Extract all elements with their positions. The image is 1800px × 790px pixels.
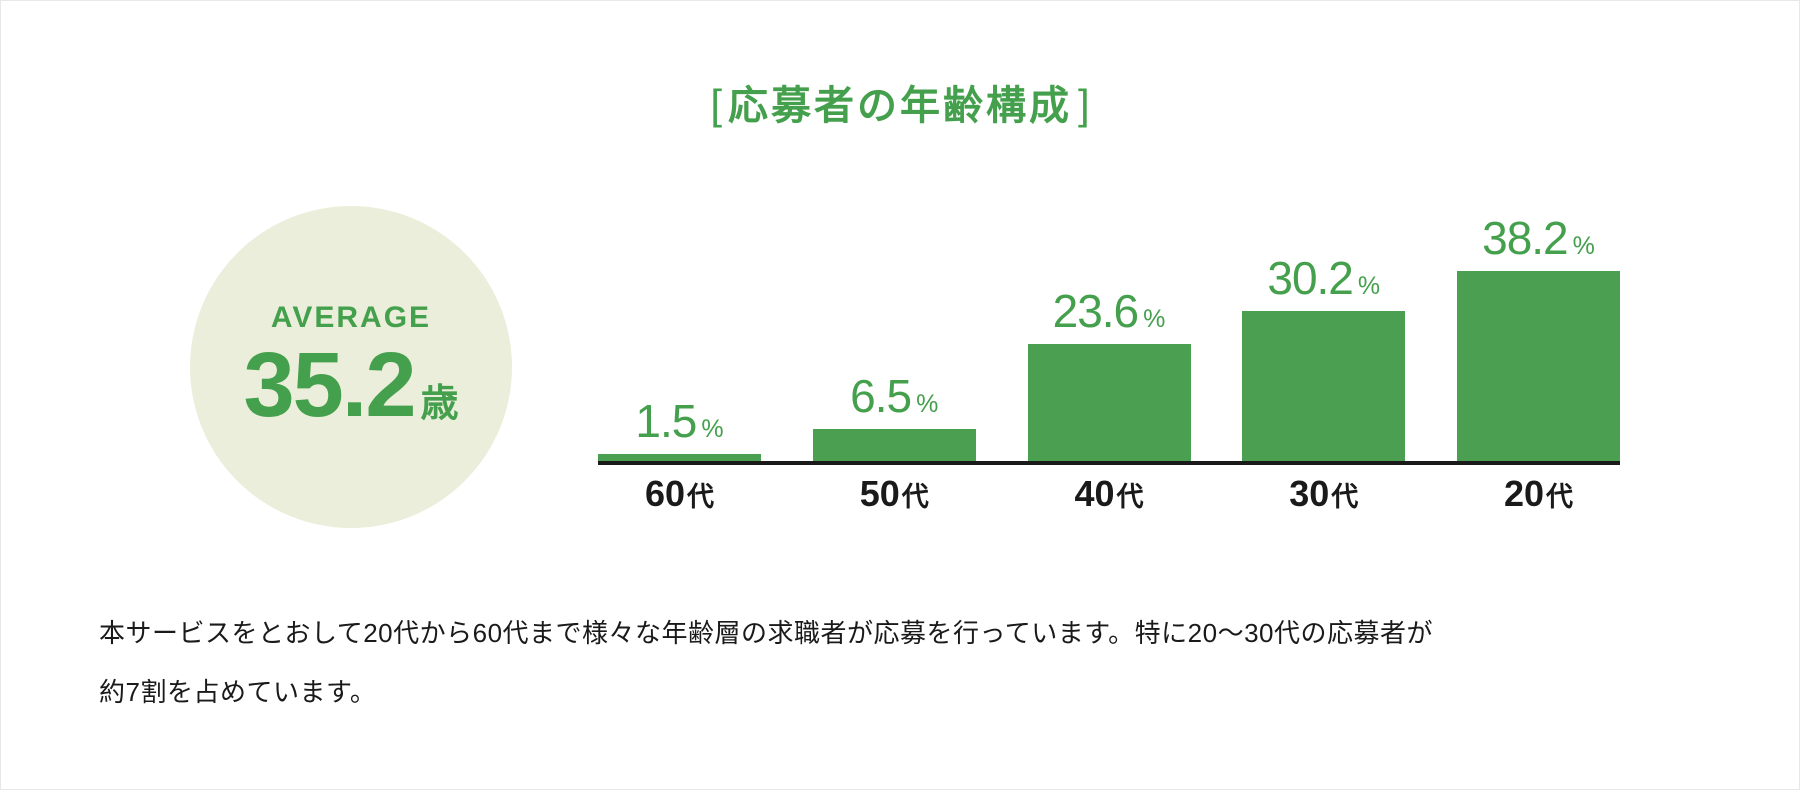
x-axis-label-suffix: 代 xyxy=(1331,482,1358,512)
x-axis-label-suffix: 代 xyxy=(1117,482,1144,512)
title-text: 応募者の年齢構成 xyxy=(728,84,1072,128)
x-axis-label-number: 20 xyxy=(1504,473,1544,514)
bar-chart: 1.5 % 6.5 % 23.6 % xyxy=(598,171,1620,461)
x-axis-label-suffix: 代 xyxy=(1546,482,1573,512)
description-line-2: 約7割を占めています。 xyxy=(99,663,1729,722)
bar-group: 1.5 % xyxy=(598,171,761,461)
x-axis-label-suffix: 代 xyxy=(687,482,714,512)
bar-value-label: 1.5 % xyxy=(635,398,723,444)
x-axis-label: 50代 xyxy=(813,473,976,515)
bar-group: 38.2 % xyxy=(1457,171,1620,461)
x-axis-label-number: 50 xyxy=(860,473,900,514)
x-axis-labels: 60代 50代 40代 30代 20代 xyxy=(598,473,1620,515)
title-bracket-right: ] xyxy=(1072,81,1096,128)
bar-rect xyxy=(813,429,976,461)
bar-rect xyxy=(1457,271,1620,461)
bar-value-label: 30.2 % xyxy=(1267,255,1380,301)
bar-value-unit: % xyxy=(1358,274,1380,299)
bar-value-unit: % xyxy=(916,392,938,417)
x-axis-label-suffix: 代 xyxy=(902,482,929,512)
page-title: [応募者の年齢構成] xyxy=(1,73,1799,131)
bar-group: 6.5 % xyxy=(813,171,976,461)
bar-value-number: 23.6 xyxy=(1053,288,1139,334)
bar-rect xyxy=(1028,344,1191,461)
bar-value-number: 38.2 xyxy=(1482,215,1568,261)
bar-group: 30.2 % xyxy=(1242,171,1405,461)
bar-value-number: 1.5 xyxy=(635,398,696,444)
x-axis-label-number: 30 xyxy=(1289,473,1329,514)
x-axis-label: 40代 xyxy=(1028,473,1191,515)
infographic-page: [応募者の年齢構成] AVERAGE 35.2 歳 1.5 % 6.5 % xyxy=(0,0,1800,790)
average-unit: 歳 xyxy=(421,385,459,423)
bar-value-unit: % xyxy=(1143,307,1165,332)
bar-value-label: 6.5 % xyxy=(850,373,938,419)
average-value: 35.2 xyxy=(243,339,414,431)
bars-container: 1.5 % 6.5 % 23.6 % xyxy=(598,171,1620,461)
title-bracket-left: [ xyxy=(704,81,728,128)
x-axis-label-number: 40 xyxy=(1074,473,1114,514)
bar-rect xyxy=(1242,311,1405,461)
average-badge: AVERAGE 35.2 歳 xyxy=(190,206,512,528)
x-axis-line xyxy=(598,461,1620,465)
bar-rect xyxy=(598,454,761,461)
description-text: 本サービスをとおして20代から60代まで様々な年齢層の求職者が応募を行っています… xyxy=(99,604,1729,721)
description-line-1: 本サービスをとおして20代から60代まで様々な年齢層の求職者が応募を行っています… xyxy=(99,604,1729,663)
average-value-row: 35.2 歳 xyxy=(243,339,458,431)
average-label: AVERAGE xyxy=(271,303,431,333)
bar-value-unit: % xyxy=(701,417,723,442)
bar-value-label: 23.6 % xyxy=(1053,288,1166,334)
x-axis-label: 60代 xyxy=(598,473,761,515)
bar-group: 23.6 % xyxy=(1028,171,1191,461)
x-axis-label: 20代 xyxy=(1457,473,1620,515)
x-axis-label-number: 60 xyxy=(645,473,685,514)
bar-value-number: 30.2 xyxy=(1267,255,1353,301)
bar-value-label: 38.2 % xyxy=(1482,215,1595,261)
bar-value-number: 6.5 xyxy=(850,373,911,419)
x-axis-label: 30代 xyxy=(1242,473,1405,515)
bar-value-unit: % xyxy=(1573,234,1595,259)
